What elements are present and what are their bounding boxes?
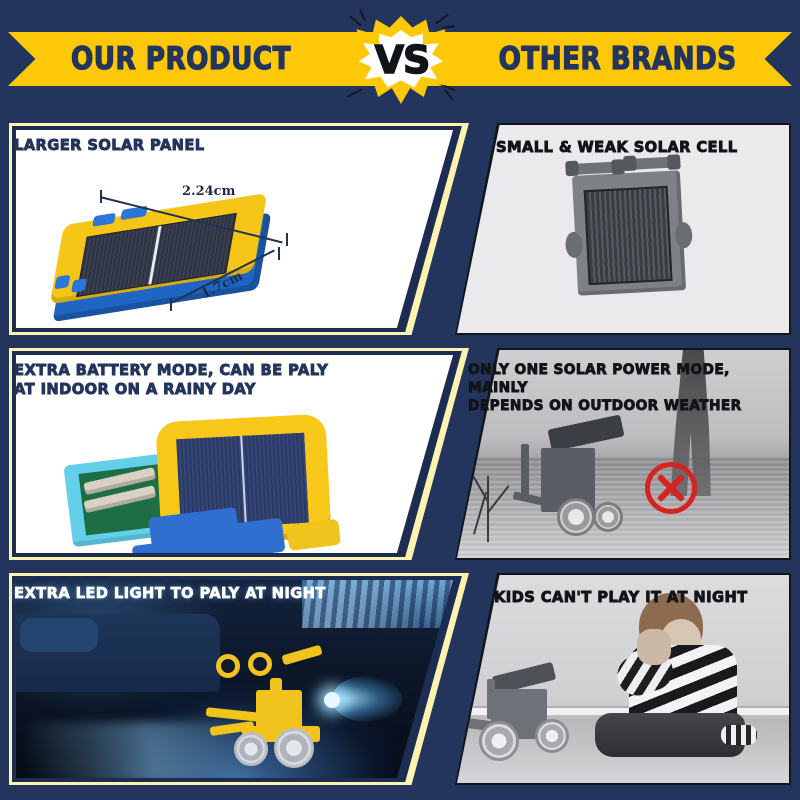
rod-cap	[623, 156, 637, 172]
panel-border: 2.24cm 1.7cm	[12, 126, 466, 332]
our-product-title: Our Product	[71, 41, 291, 77]
small-solar-cell-object	[572, 170, 686, 295]
child-hand	[637, 629, 671, 665]
dimension-cap	[170, 298, 172, 311]
twig	[473, 492, 487, 535]
other-brand-heading-2: Only One Solar Power Mode, Mainly Depend…	[468, 361, 783, 415]
chassis-part	[286, 519, 341, 551]
robot-eye	[216, 654, 240, 678]
rod-cap	[565, 161, 579, 177]
cell-glass	[584, 186, 673, 285]
robot-neck	[270, 678, 282, 700]
our-product-heading-2: Extra Battery Mode, Can Be Paly At Indoo…	[14, 361, 328, 399]
solar-panel-illustration: 2.24cm 1.7cm	[16, 130, 462, 328]
panel-image: 2.24cm 1.7cm	[16, 130, 462, 328]
our-product-heading-1: Larger Solar Panel	[14, 136, 205, 155]
prohibited-icon	[645, 462, 697, 514]
robot-eye	[248, 652, 272, 676]
other-brand-heading-1: Small & Weak Solar Cell	[496, 138, 737, 157]
toy-robot-idle	[457, 663, 607, 769]
panel-border	[12, 576, 466, 782]
dimension-cap	[286, 233, 288, 246]
comparison-row-1: 2.24cm 1.7cm Larger Solar Panel	[0, 120, 800, 338]
toy-robot-led	[212, 648, 372, 772]
window-with-trees	[302, 580, 462, 628]
robot-wheel	[593, 502, 623, 532]
dimension-cap	[278, 247, 280, 260]
led-light-source	[324, 692, 340, 708]
our-product-heading-3: Extra LED Light To Paly At Night	[14, 584, 326, 603]
vs-label: VS	[330, 12, 472, 108]
toy-robot-grey	[515, 426, 665, 544]
robot-arm	[206, 707, 261, 722]
comparison-row-2: Extra Battery Mode, Can Be Paly At Indoo…	[0, 345, 800, 563]
child-sock	[721, 725, 757, 745]
chassis-part	[222, 518, 286, 553]
pillow	[20, 618, 98, 652]
our-product-panel-led[interactable]	[9, 573, 469, 785]
battery-panel-object	[59, 399, 346, 553]
twig	[487, 485, 510, 513]
robot-wheel	[479, 721, 519, 761]
side-knob	[675, 222, 693, 249]
robot-wheel	[274, 728, 314, 768]
child-figure	[611, 593, 759, 753]
dimension-label-width: 2.24cm	[182, 184, 235, 199]
robot-wheel	[557, 498, 595, 536]
chassis-part	[132, 540, 181, 553]
panel-image	[16, 580, 462, 778]
robot-antenna	[281, 645, 322, 666]
comparison-row-3: Extra LED Light To Paly At Night	[0, 570, 800, 788]
led-light-beam	[332, 676, 402, 722]
solar-panel-object	[46, 185, 280, 327]
robot-mast	[521, 444, 529, 496]
vs-badge: VS	[330, 12, 472, 108]
robot-wheel	[535, 719, 569, 753]
robot-mast	[487, 679, 495, 719]
robot-wheel	[234, 732, 268, 766]
other-brands-title: Other Brands	[498, 41, 736, 77]
header-banner: Our Product Other Brands VS	[0, 0, 800, 112]
other-brand-heading-3: Kids Can't Play It At Night	[494, 588, 748, 607]
